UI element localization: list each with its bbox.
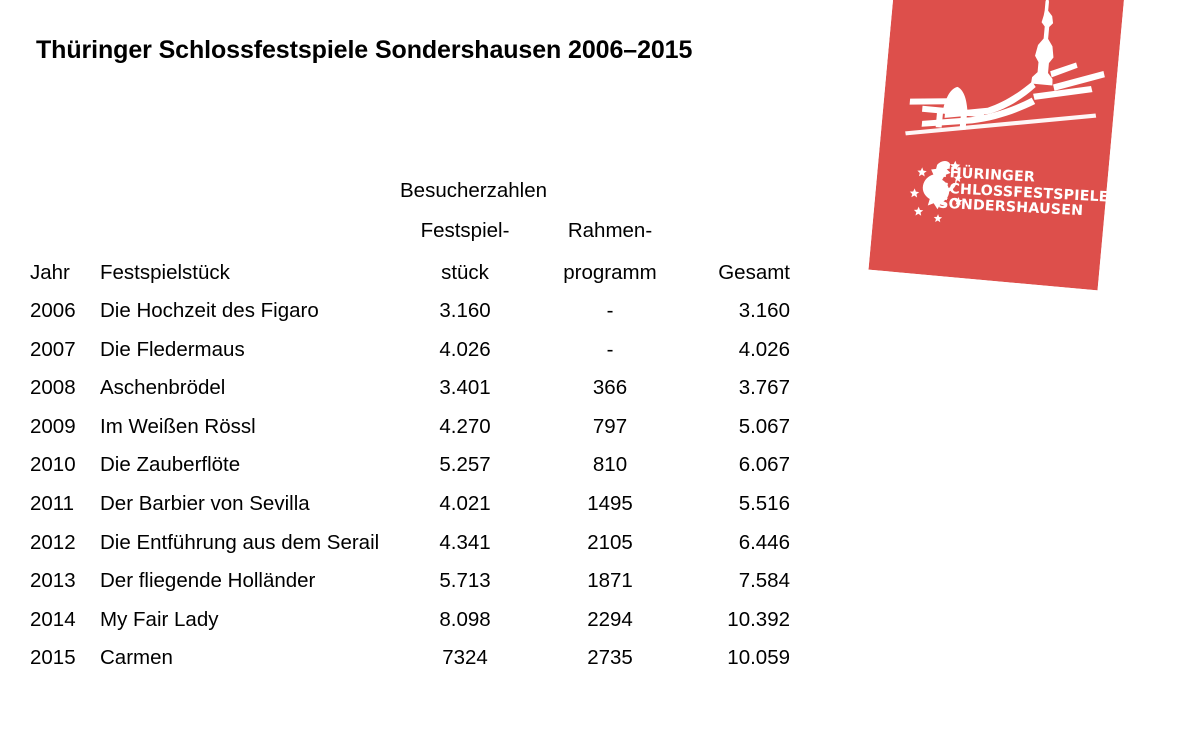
cell-year: 2007: [30, 322, 100, 361]
cell-piece: Die Fledermaus: [100, 322, 400, 361]
table-row: 2008 Aschenbrödel 3.401 366 3.767: [30, 360, 790, 399]
cell-year: 2012: [30, 515, 100, 554]
spacer-cell: [100, 201, 400, 241]
table-row: 2011 Der Barbier von Sevilla 4.021 1495 …: [30, 476, 790, 515]
cell-piece: Die Entführung aus dem Serail: [100, 515, 400, 554]
cell-year: 2006: [30, 283, 100, 322]
cell-piece: Die Zauberflöte: [100, 437, 400, 476]
cell-rahmenprogramm: -: [530, 322, 690, 361]
table-header-row: Jahr Festspielstück stück programm Gesam…: [30, 241, 790, 283]
cell-gesamt: 3.767: [690, 360, 790, 399]
cell-rahmenprogramm: 1495: [530, 476, 690, 515]
cell-festspielstueck: 7324: [400, 630, 530, 669]
cell-year: 2009: [30, 399, 100, 438]
table-row: 2014 My Fair Lady 8.098 2294 10.392: [30, 592, 790, 631]
cell-gesamt: 5.067: [690, 399, 790, 438]
cell-festspielstueck: 4.341: [400, 515, 530, 554]
cell-festspielstueck: 4.270: [400, 399, 530, 438]
cell-piece: Im Weißen Rössl: [100, 399, 400, 438]
spacer-cell: [690, 201, 790, 241]
column-header-jahr: Jahr: [30, 241, 100, 283]
cell-festspielstueck: 3.160: [400, 283, 530, 322]
cell-year: 2010: [30, 437, 100, 476]
visitor-statistics-table: Besucherzahlen Festspiel- Rahmen- Jahr F…: [30, 163, 790, 669]
cell-piece: Carmen: [100, 630, 400, 669]
table-row: 2015 Carmen 7324 2735 10.059: [30, 630, 790, 669]
cell-gesamt: 5.516: [690, 476, 790, 515]
table-subheader-row-1: Festspiel- Rahmen-: [30, 201, 790, 241]
cell-gesamt: 7.584: [690, 553, 790, 592]
cell-gesamt: 10.392: [690, 592, 790, 631]
cell-year: 2008: [30, 360, 100, 399]
column-header-rahmenprogramm-line2: programm: [530, 241, 690, 283]
table-row: 2009 Im Weißen Rössl 4.270 797 5.067: [30, 399, 790, 438]
cell-festspielstueck: 5.257: [400, 437, 530, 476]
spacer-cell: [100, 163, 400, 201]
cell-festspielstueck: 4.021: [400, 476, 530, 515]
cell-year: 2015: [30, 630, 100, 669]
table-row: 2012 Die Entführung aus dem Serail 4.341…: [30, 515, 790, 554]
cell-rahmenprogramm: -: [530, 283, 690, 322]
cell-rahmenprogramm: 2735: [530, 630, 690, 669]
column-header-festspielstueck-line2: stück: [400, 241, 530, 283]
cell-rahmenprogramm: 2294: [530, 592, 690, 631]
table-row: 2013 Der fliegende Holländer 5.713 1871 …: [30, 553, 790, 592]
cell-year: 2013: [30, 553, 100, 592]
thuringian-lion-crest-icon: [868, 0, 1128, 290]
column-header-festspielstueck-line1: Festspiel-: [400, 201, 530, 241]
cell-festspielstueck: 8.098: [400, 592, 530, 631]
cell-gesamt: 4.026: [690, 322, 790, 361]
cell-gesamt: 10.059: [690, 630, 790, 669]
group-header-besucherzahlen: Besucherzahlen: [400, 163, 790, 201]
cell-piece: Die Hochzeit des Figaro: [100, 283, 400, 322]
cell-rahmenprogramm: 2105: [530, 515, 690, 554]
table-row: 2007 Die Fledermaus 4.026 - 4.026: [30, 322, 790, 361]
cell-piece: My Fair Lady: [100, 592, 400, 631]
cell-festspielstueck: 4.026: [400, 322, 530, 361]
cell-rahmenprogramm: 797: [530, 399, 690, 438]
cell-festspielstueck: 3.401: [400, 360, 530, 399]
cell-gesamt: 6.067: [690, 437, 790, 476]
spacer-cell: [30, 201, 100, 241]
cell-rahmenprogramm: 366: [530, 360, 690, 399]
column-header-rahmenprogramm-line1: Rahmen-: [530, 201, 690, 241]
spacer-cell: [30, 163, 100, 201]
column-header-festspielstueck: Festspielstück: [100, 241, 400, 283]
cell-piece: Aschenbrödel: [100, 360, 400, 399]
table-group-header-row: Besucherzahlen: [30, 163, 790, 201]
cell-piece: Der fliegende Holländer: [100, 553, 400, 592]
cell-year: 2011: [30, 476, 100, 515]
cell-piece: Der Barbier von Sevilla: [100, 476, 400, 515]
logo-wordmark: THÜRINGER SCHLOSSFESTSPIELE SONDERSHAUSE…: [938, 166, 1110, 222]
column-header-gesamt: Gesamt: [690, 241, 790, 283]
cell-gesamt: 6.446: [690, 515, 790, 554]
festival-logo-card: THÜRINGER SCHLOSSFESTSPIELE SONDERSHAUSE…: [868, 0, 1128, 290]
table-row: 2010 Die Zauberflöte 5.257 810 6.067: [30, 437, 790, 476]
cell-rahmenprogramm: 810: [530, 437, 690, 476]
cell-festspielstueck: 5.713: [400, 553, 530, 592]
cell-gesamt: 3.160: [690, 283, 790, 322]
page-title: Thüringer Schlossfestspiele Sondershause…: [36, 36, 692, 65]
cell-year: 2014: [30, 592, 100, 631]
table-row: 2006 Die Hochzeit des Figaro 3.160 - 3.1…: [30, 283, 790, 322]
cell-rahmenprogramm: 1871: [530, 553, 690, 592]
